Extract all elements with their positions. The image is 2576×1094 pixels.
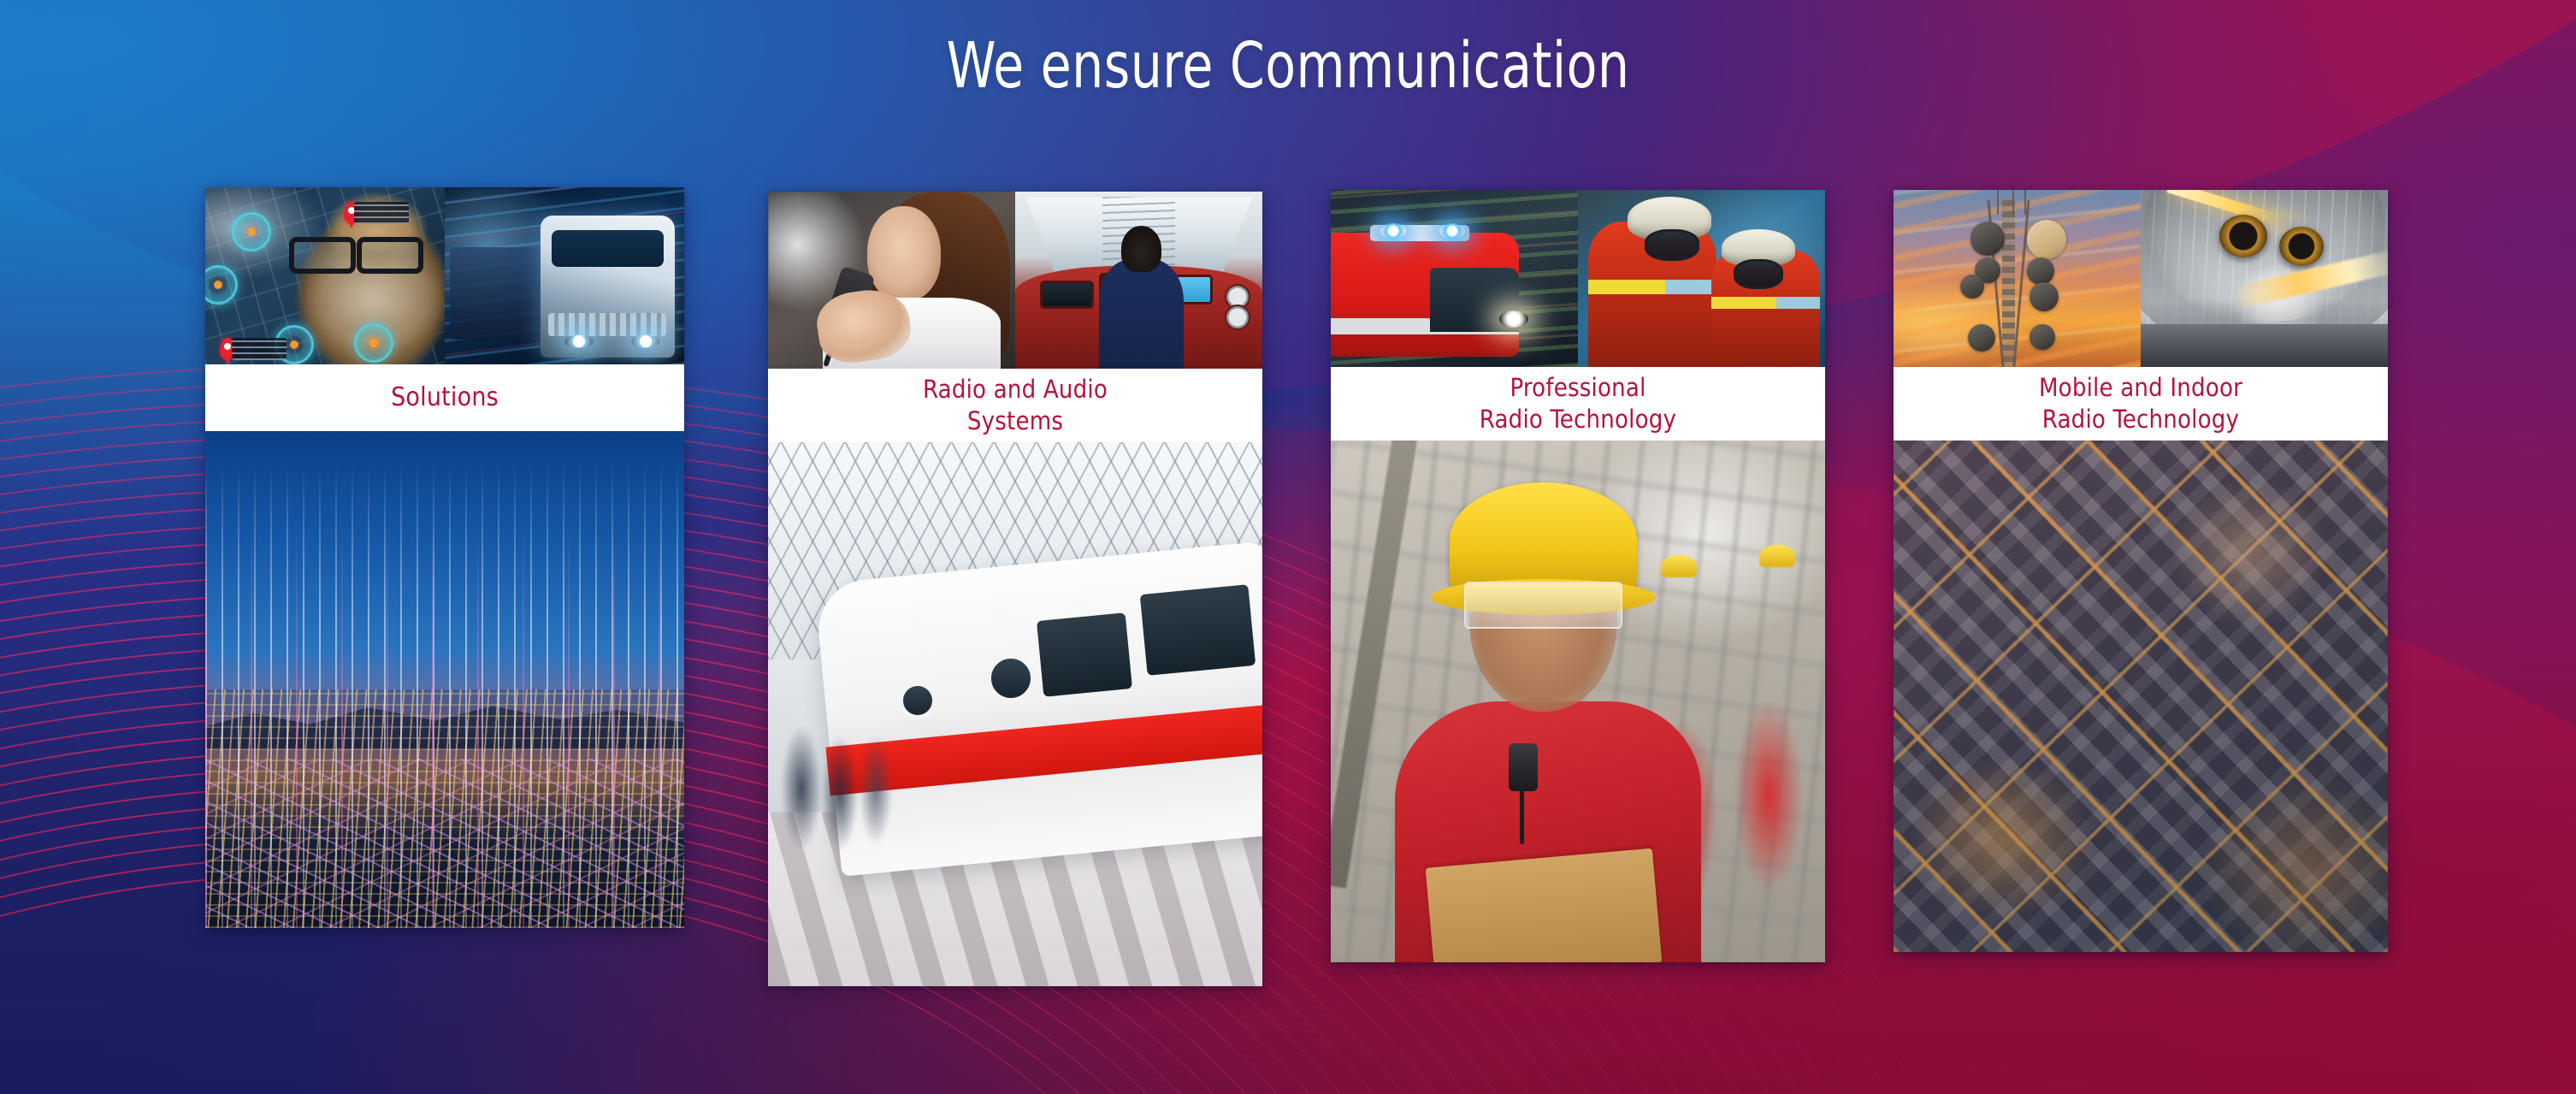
radio-tower-sunset-photo xyxy=(1894,190,2141,367)
card-solutions[interactable]: Solutions xyxy=(205,187,684,928)
card-label-text: Radio and Audio Systems xyxy=(923,374,1108,437)
card-mobile-and-indoor-radio-technology[interactable]: Mobile and Indoor Radio Technology xyxy=(1894,190,2388,952)
breathing-mask-icon xyxy=(1734,259,1783,289)
card-thumbnail-row xyxy=(1894,190,2388,367)
page-title: We ensure Communication xyxy=(155,34,2422,98)
industrial-worker-radio-photo xyxy=(1331,441,1825,962)
card-label-text: Solutions xyxy=(391,381,499,414)
antenna-dish-icon xyxy=(1970,222,2005,256)
card-row: Solutions xyxy=(0,0,2576,1094)
card-label-solutions: Solutions xyxy=(205,364,684,431)
card-label-text: Mobile and Indoor Radio Technology xyxy=(2039,372,2242,435)
antenna-dish-icon xyxy=(2027,220,2066,259)
card-thumbnail-row xyxy=(205,187,684,364)
city-skyline-data-beams-photo xyxy=(205,431,684,928)
clipboard-icon xyxy=(1425,849,1662,962)
map-ring-icon xyxy=(232,212,271,251)
card-label-mobile-and-indoor-radio-technology: Mobile and Indoor Radio Technology xyxy=(1894,367,2388,441)
shoulder-radio-mic-icon xyxy=(1509,743,1538,791)
ambulance-emergency-photo xyxy=(1331,190,1578,367)
card-label-text: Professional Radio Technology xyxy=(1480,372,1676,435)
card-thumbnail-row xyxy=(1331,190,1825,367)
card-label-radio-and-audio-systems: Radio and Audio Systems xyxy=(768,369,1262,442)
firefighters-breathing-apparatus-photo xyxy=(1578,190,1825,367)
tunnel-fan-icon xyxy=(2279,227,2324,266)
antenna-dish-icon xyxy=(1968,324,1995,352)
map-ring-icon xyxy=(354,323,393,363)
truck-motion-blur-photo xyxy=(445,187,684,364)
slide-stage: We ensure Communication xyxy=(0,0,2576,1094)
hard-hat-icon xyxy=(1450,482,1638,597)
card-radio-and-audio-systems[interactable]: Radio and Audio Systems xyxy=(768,192,1262,986)
antenna-dish-icon xyxy=(2029,282,2059,311)
tunnel-light-trails-photo xyxy=(2141,190,2388,367)
man-with-glasses-map-overlay-photo xyxy=(205,187,445,364)
card-thumbnail-row xyxy=(768,192,1262,369)
map-label-tag xyxy=(232,338,287,360)
high-speed-train-platform-photo xyxy=(768,442,1262,986)
train-driver-cab-photo xyxy=(1015,192,1262,369)
map-label-tag xyxy=(354,202,409,224)
card-label-professional-radio-technology: Professional Radio Technology xyxy=(1331,367,1825,441)
aerial-city-night-photo xyxy=(1894,441,2388,952)
card-professional-radio-technology[interactable]: Professional Radio Technology xyxy=(1331,190,1825,962)
breathing-mask-icon xyxy=(1645,229,1699,261)
antenna-dish-icon xyxy=(2027,257,2054,285)
dispatcher-with-microphone-photo xyxy=(768,192,1015,369)
safety-glasses-icon xyxy=(1464,582,1622,629)
